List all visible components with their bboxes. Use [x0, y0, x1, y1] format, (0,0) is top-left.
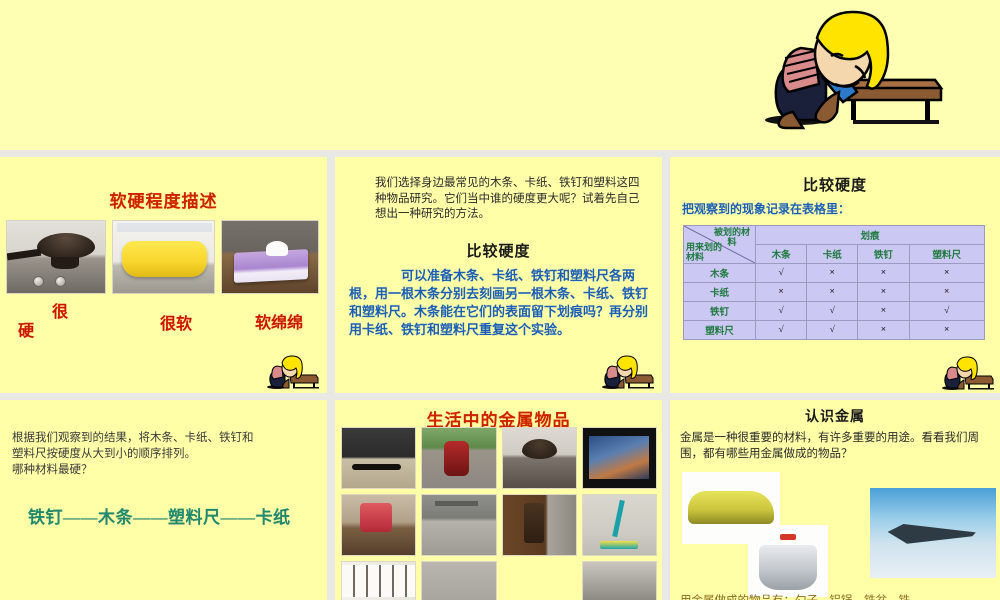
ordering-line-1: 根据我们观察到的结果，将木条、卡纸、铁钉和 — [12, 430, 302, 446]
table-cell[interactable]: × — [909, 321, 984, 340]
metal-surface-photo — [421, 561, 496, 600]
panel-hardness-ordering[interactable]: 根据我们观察到的结果，将木条、卡纸、铁钉和 塑料尺按硬度从大到小的顺序排列。 哪… — [0, 400, 327, 600]
table-col-header-3: 塑料尺 — [909, 245, 984, 264]
panel-compare-hardness-intro[interactable]: 我们选择身边最常见的木条、卡纸、铁钉和塑料这四种物品研究。它们当中谁的硬度更大呢… — [335, 157, 662, 393]
gas-stove-with-wok-photo — [6, 220, 106, 294]
television-photo — [582, 427, 657, 489]
table-cell[interactable]: √ — [756, 264, 807, 283]
label-very-hard-line1: 很 — [52, 298, 68, 322]
softness-photo-row — [6, 220, 321, 294]
fighter-jet-photo — [870, 488, 996, 578]
method-paragraph: 可以准备木条、卡纸、铁钉和塑料尺各两根，用一根木条分别去刻画另一根木条、卡纸、铁… — [349, 267, 649, 339]
metal-railing-photo — [421, 494, 496, 556]
table-cell[interactable]: √ — [909, 302, 984, 321]
ordering-line-2: 塑料尺按硬度从大到小的顺序排列。 — [12, 446, 302, 462]
section-title-compare-hardness: 比较硬度 — [335, 240, 662, 261]
table-header-row-1: 被划的材料 用来划的材料 划痕 — [684, 226, 985, 245]
table-col-header-2: 铁钉 — [858, 245, 909, 264]
ordering-question: 根据我们观察到的结果，将木条、卡纸、铁钉和 塑料尺按硬度从大到小的顺序排列。 哪… — [12, 430, 302, 478]
slide-contact-sheet: 软硬程度描述 很 硬 很软 软绵绵 我们选择 — [0, 0, 1000, 600]
table-cell[interactable]: √ — [807, 302, 858, 321]
table-corner-cell: 被划的材料 用来划的材料 — [684, 226, 756, 264]
corner-label-scratcher: 用来划的材料 — [686, 242, 730, 262]
tissue-box-photo — [221, 220, 319, 294]
table-row-header-3: 塑料尺 — [684, 321, 756, 340]
table-cell[interactable]: × — [858, 321, 909, 340]
label-very-soft: 很软 — [160, 310, 192, 334]
table-cell[interactable]: × — [909, 264, 984, 283]
metal-objects-photo-grid — [341, 427, 657, 600]
boy-at-piano-mini-icon — [259, 355, 321, 391]
hardness-record-table[interactable]: 被划的材料 用来划的材料 划痕 木条 卡纸 铁钉 塑料尺 木条 √ × × × … — [683, 225, 985, 340]
table-col-header-1: 卡纸 — [807, 245, 858, 264]
gas-stove-photo — [502, 427, 577, 489]
table-cell[interactable]: × — [858, 283, 909, 302]
table-cell[interactable]: × — [756, 283, 807, 302]
know-metal-paragraph: 金属是一种很重要的材料，有许多重要的用途。看看我们周围，都有哪些用金属做成的物品… — [680, 430, 995, 462]
boy-at-piano-mini-icon — [594, 355, 656, 391]
boy-at-piano-cartoon-icon — [735, 8, 955, 133]
section-title-compare-hardness: 比较硬度 — [670, 174, 1000, 195]
label-very-hard-line2: 硬 — [18, 317, 34, 341]
misc-metal-photo — [582, 561, 657, 600]
mop-photo — [582, 494, 657, 556]
table-row[interactable]: 塑料尺 √ √ × × — [684, 321, 985, 340]
panel-record-table[interactable]: 比较硬度 把观察到的现象记录在表格里： 被划的材料 用来划的材料 划痕 木条 卡… — [670, 157, 1000, 393]
page-title-know-metal: 认识金属 — [670, 406, 1000, 426]
yellow-sponge-photo — [112, 220, 215, 294]
red-chair-photo — [341, 494, 416, 556]
metal-bucket-photo — [748, 525, 828, 597]
bookshelf-photo — [341, 561, 416, 600]
cut-off-text: 用金属做成的物品有：勺子、铝锅、铁盆、铁... — [680, 592, 1000, 600]
table-row[interactable]: 卡纸 × × × × — [684, 283, 985, 302]
door-handle-photo — [502, 494, 577, 556]
panel-know-metal[interactable]: 认识金属 金属是一种很重要的材料，有许多重要的用途。看看我们周围，都有哪些用金属… — [670, 400, 1000, 600]
top-banner — [0, 0, 1000, 150]
table-instruction: 把观察到的现象记录在表格里： — [682, 200, 850, 217]
stove-knob-icon — [33, 276, 44, 287]
table-col-header-0: 木条 — [756, 245, 807, 264]
table-row-header-2: 铁钉 — [684, 302, 756, 321]
ordering-answer: 铁钉——木条——塑料尺——卡纸 — [28, 503, 313, 528]
ordering-line-3: 哪种材料最硬？ — [12, 462, 302, 478]
table-group-header-scratch-mark: 划痕 — [756, 226, 985, 245]
intro-paragraph: 我们选择身边最常见的木条、卡纸、铁钉和塑料这四种物品研究。它们当中谁的硬度更大呢… — [375, 176, 645, 223]
stove-knob-icon — [55, 276, 66, 287]
table-row[interactable]: 铁钉 √ √ × √ — [684, 302, 985, 321]
table-cell[interactable]: × — [858, 264, 909, 283]
panel-softness-description[interactable]: 软硬程度描述 很 硬 很软 软绵绵 — [0, 157, 327, 393]
panel-metal-objects[interactable]: 生活中的金属物品 — [335, 400, 662, 600]
table-cell[interactable]: × — [807, 283, 858, 302]
grid-spacer — [502, 561, 577, 600]
table-cell[interactable]: √ — [756, 302, 807, 321]
table-row-header-1: 卡纸 — [684, 283, 756, 302]
table-cell[interactable]: × — [807, 264, 858, 283]
boy-at-piano-mini-icon — [934, 356, 996, 392]
table-cell[interactable]: √ — [756, 321, 807, 340]
table-cell[interactable]: × — [909, 283, 984, 302]
stove-arm-icon — [7, 249, 42, 261]
table-cell[interactable]: × — [858, 302, 909, 321]
motorcycle-photo — [421, 427, 496, 489]
table-row[interactable]: 木条 √ × × × — [684, 264, 985, 283]
pen-in-case-photo — [341, 427, 416, 489]
label-fluffy: 软绵绵 — [255, 309, 303, 333]
page-title-softness: 软硬程度描述 — [0, 187, 327, 212]
table-cell[interactable]: √ — [807, 321, 858, 340]
table-row-header-0: 木条 — [684, 264, 756, 283]
